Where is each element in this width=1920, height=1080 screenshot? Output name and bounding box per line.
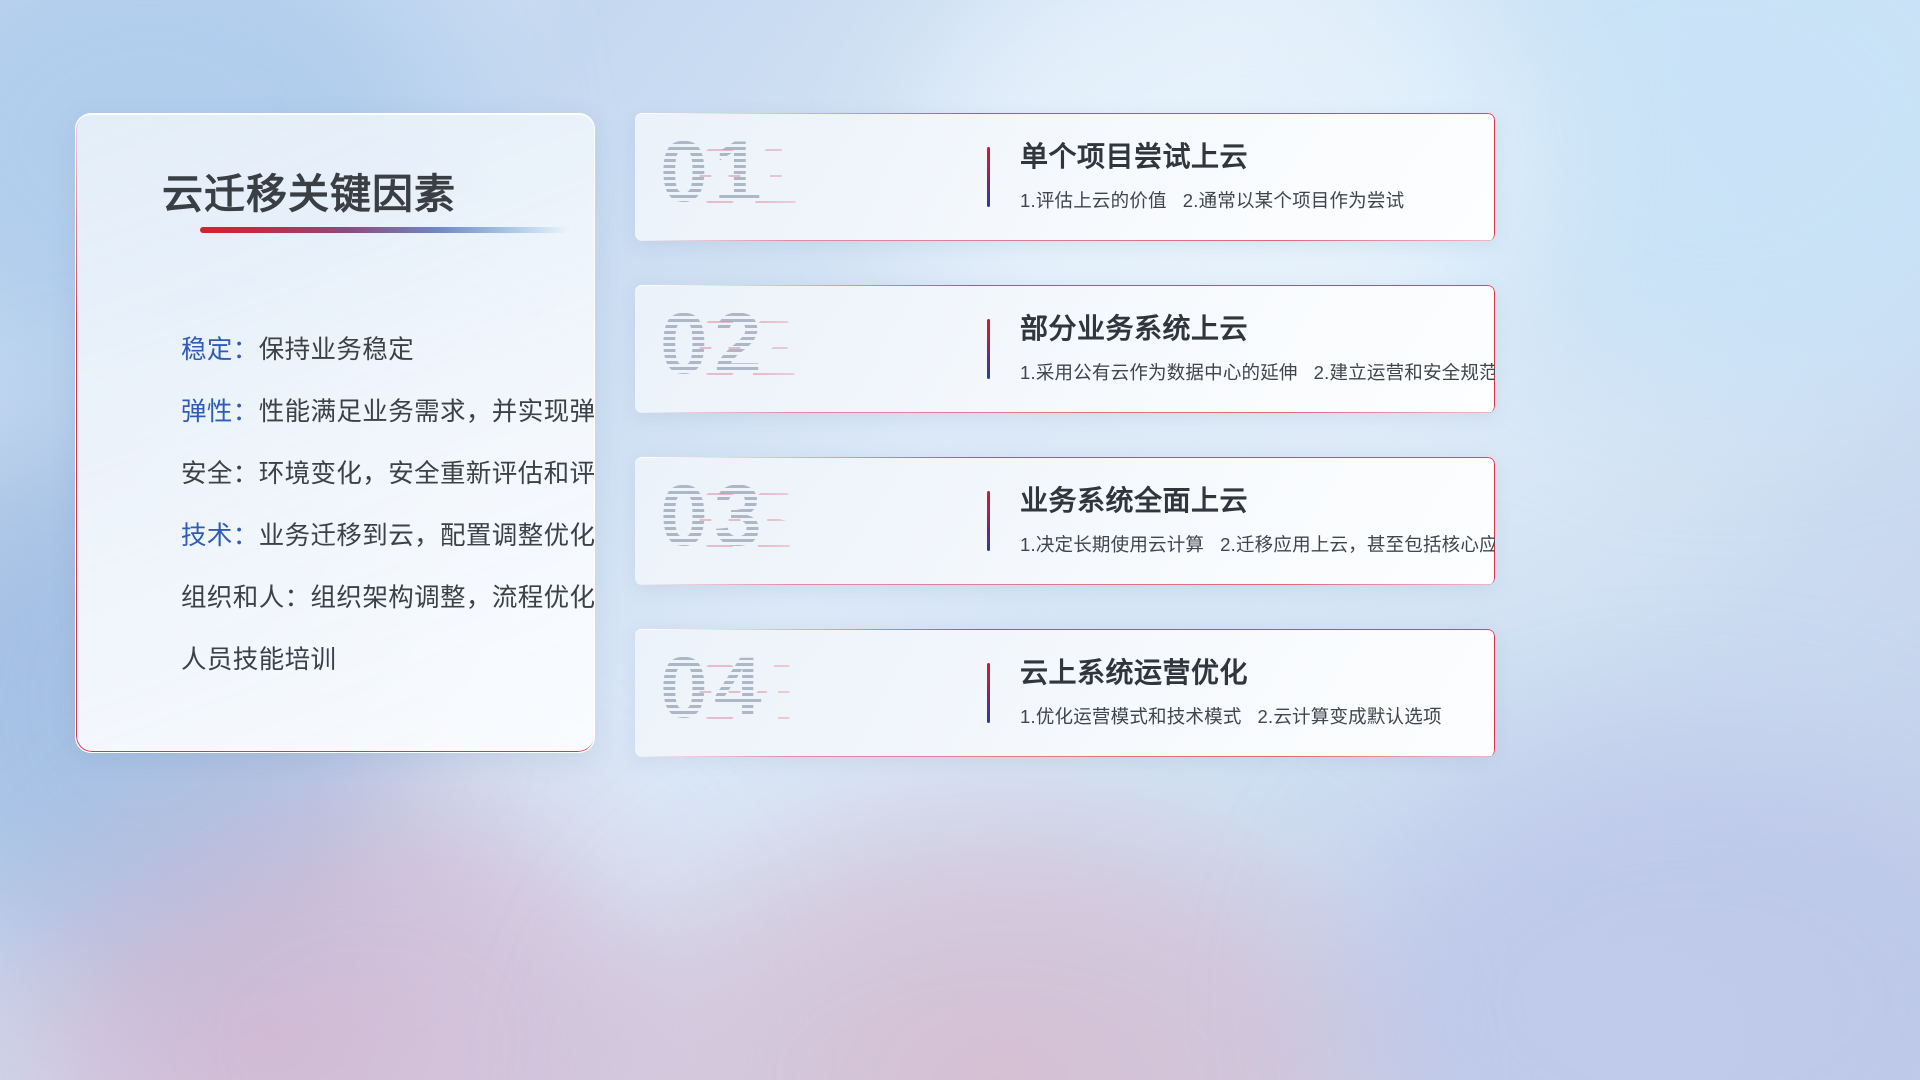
stage-title: 云上系统运营优化 bbox=[1020, 651, 1248, 691]
title-underline-rule bbox=[200, 227, 568, 233]
key-factor-row: 组织和人：组织架构调整，流程优化， bbox=[181, 567, 564, 629]
key-factor-label: 稳定： bbox=[181, 336, 259, 364]
key-factor-label: 技术： bbox=[181, 522, 259, 550]
key-factor-text: 业务迁移到云，配置调整优化 bbox=[259, 522, 595, 550]
stage-point-1: 1.采用公有云作为数据中心的延伸 bbox=[1020, 362, 1298, 383]
slide-stage: 云迁移关键因素 稳定：保持业务稳定弹性：性能满足业务需求，并实现弹性安全：环境变… bbox=[0, 0, 1920, 1080]
stage-point-1: 1.决定长期使用云计算 bbox=[1020, 534, 1204, 555]
key-factor-row: 弹性：性能满足业务需求，并实现弹性 bbox=[181, 381, 564, 443]
key-factor-text: 保持业务稳定 bbox=[259, 336, 414, 364]
stage-point-2: 2.建立运营和安全规范 bbox=[1314, 362, 1495, 383]
stage-card-01[interactable]: 0101 单个项目尝试上云 1.评估上云的价值2.通常以某个项目作为尝试 bbox=[635, 113, 1495, 241]
key-factor-label: 组织和人： bbox=[181, 584, 311, 612]
stage-point-2: 2.迁移应用上云，甚至包括核心应用 bbox=[1220, 534, 1495, 555]
key-factor-label: 安全： bbox=[181, 460, 259, 488]
stage-point-1: 1.优化运营模式和技术模式 bbox=[1020, 706, 1242, 727]
key-factors-panel: 云迁移关键因素 稳定：保持业务稳定弹性：性能满足业务需求，并实现弹性安全：环境变… bbox=[75, 113, 595, 753]
stage-card-04[interactable]: 0404 云上系统运营优化 1.优化运营模式和技术模式2.云计算变成默认选项 bbox=[635, 629, 1495, 757]
key-factor-row: 人员技能培训 bbox=[181, 629, 564, 691]
stage-number-04: 0404 bbox=[660, 639, 840, 747]
stage-points: 1.决定长期使用云计算2.迁移应用上云，甚至包括核心应用 bbox=[1020, 531, 1495, 557]
stage-points: 1.采用公有云作为数据中心的延伸2.建立运营和安全规范 bbox=[1020, 359, 1495, 385]
stage-title: 单个项目尝试上云 bbox=[1020, 135, 1248, 175]
stage-title: 部分业务系统上云 bbox=[1020, 307, 1248, 347]
key-factors-list: 稳定：保持业务稳定弹性：性能满足业务需求，并实现弹性安全：环境变化，安全重新评估… bbox=[181, 319, 564, 691]
key-factor-text: 组织架构调整，流程优化， bbox=[311, 584, 595, 612]
key-factor-row: 技术：业务迁移到云，配置调整优化 bbox=[181, 505, 564, 567]
stage-point-1: 1.评估上云的价值 bbox=[1020, 190, 1167, 211]
stage-title: 业务系统全面上云 bbox=[1020, 479, 1248, 519]
accent-divider bbox=[987, 147, 990, 207]
stage-number-02: 0202 bbox=[660, 295, 840, 403]
stage-card-03[interactable]: 0303 业务系统全面上云 1.决定长期使用云计算2.迁移应用上云，甚至包括核心… bbox=[635, 457, 1495, 585]
stage-points: 1.评估上云的价值2.通常以某个项目作为尝试 bbox=[1020, 187, 1404, 213]
accent-divider bbox=[987, 663, 990, 723]
key-factor-text: 性能满足业务需求，并实现弹性 bbox=[259, 398, 595, 426]
panel-title: 云迁移关键因素 bbox=[162, 160, 456, 220]
key-factor-label: 弹性： bbox=[181, 398, 259, 426]
key-factor-text: 人员技能培训 bbox=[181, 646, 336, 674]
accent-divider bbox=[987, 491, 990, 551]
key-factor-row: 稳定：保持业务稳定 bbox=[181, 319, 564, 381]
accent-divider bbox=[987, 319, 990, 379]
stage-number-01: 0101 bbox=[660, 123, 840, 231]
stage-point-2: 2.通常以某个项目作为尝试 bbox=[1183, 190, 1405, 211]
stage-number-03: 0303 bbox=[660, 467, 840, 575]
stage-card-02[interactable]: 0202 部分业务系统上云 1.采用公有云作为数据中心的延伸2.建立运营和安全规… bbox=[635, 285, 1495, 413]
key-factor-text: 环境变化，安全重新评估和评审 bbox=[259, 460, 595, 488]
stage-points: 1.优化运营模式和技术模式2.云计算变成默认选项 bbox=[1020, 703, 1442, 729]
stage-point-2: 2.云计算变成默认选项 bbox=[1258, 706, 1442, 727]
key-factor-row: 安全：环境变化，安全重新评估和评审 bbox=[181, 443, 564, 505]
